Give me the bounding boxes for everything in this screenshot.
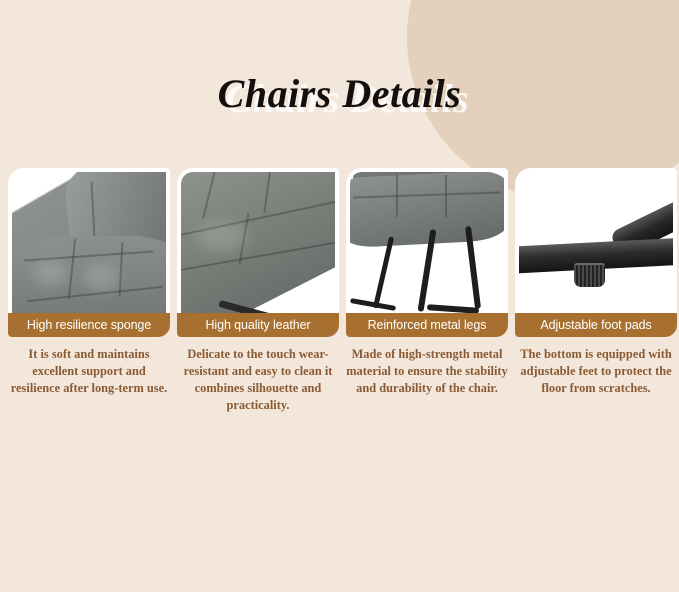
card-caption: Made of high-strength metal material to …: [346, 346, 508, 397]
card-image-frame: [515, 168, 677, 335]
card-caption: The bottom is equipped with adjustable f…: [515, 346, 677, 397]
card-label: High quality leather: [205, 318, 310, 332]
card-caption: Delicate to the touch wear-resistant and…: [177, 346, 339, 414]
page-title: Chairs Details Chairs Details: [218, 70, 462, 117]
feature-card-list: High resilience sponge It is soft and ma…: [8, 168, 671, 414]
card-image-frame: [177, 168, 339, 335]
feature-card: High resilience sponge It is soft and ma…: [8, 168, 170, 414]
card-label: Reinforced metal legs: [368, 318, 487, 332]
product-detail-page: Chairs Details Chairs Details: [0, 0, 679, 592]
feature-card: Adjustable foot pads The bottom is equip…: [515, 168, 677, 414]
page-title-text: Chairs Details: [218, 71, 462, 116]
page-title-area: Chairs Details Chairs Details: [0, 62, 679, 124]
card-label-banner: High quality leather: [177, 313, 339, 337]
card-label-banner: High resilience sponge: [8, 313, 170, 337]
feature-card: High quality leather Delicate to the tou…: [177, 168, 339, 414]
feature-card: Reinforced metal legs Made of high-stren…: [346, 168, 508, 414]
card-image-frame: [346, 168, 508, 335]
tufted-gray-cushion-closeup: [12, 172, 166, 331]
quilted-gray-leather-closeup: [181, 172, 335, 331]
card-label: Adjustable foot pads: [540, 318, 651, 332]
chair-black-sled-metal-legs: [350, 172, 504, 331]
card-caption: It is soft and maintains excellent suppo…: [8, 346, 170, 397]
adjustable-foot-pad-closeup: [519, 172, 673, 331]
card-label: High resilience sponge: [27, 318, 151, 332]
card-image-frame: [8, 168, 170, 335]
card-label-banner: Adjustable foot pads: [515, 313, 677, 337]
card-label-banner: Reinforced metal legs: [346, 313, 508, 337]
